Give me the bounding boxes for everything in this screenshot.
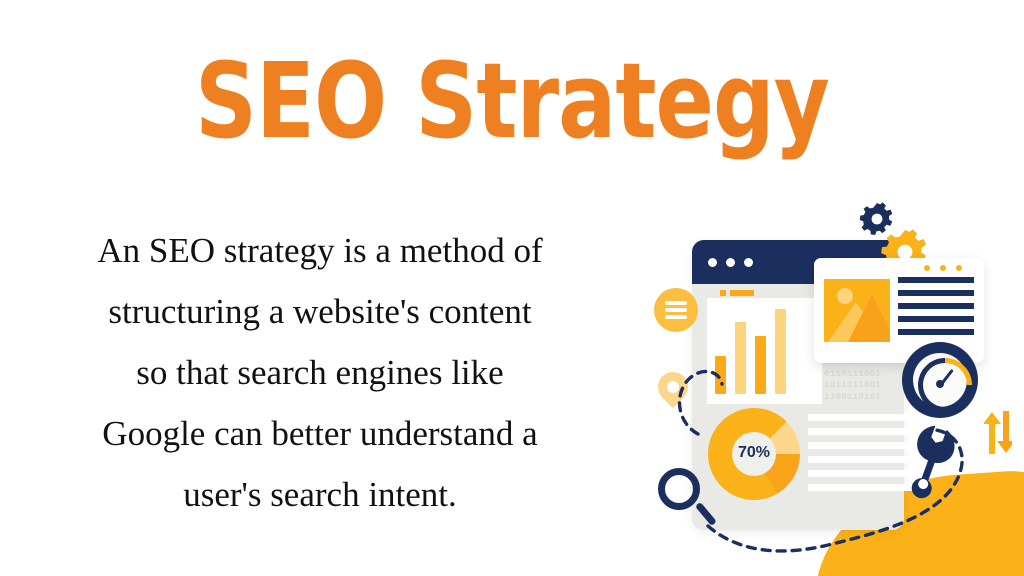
wrench-icon — [904, 422, 956, 500]
body-line-3: so that search engines like — [12, 342, 628, 403]
body-line-2: structuring a website's content — [12, 281, 628, 342]
up-down-arrows-icon — [984, 410, 1012, 454]
body-line-5: user's search intent. — [12, 464, 628, 525]
body-paragraph: An SEO strategy is a method of structuri… — [12, 220, 628, 525]
body-line-4: Google can better understand a — [12, 403, 628, 464]
slide-canvas: SEO Strategy An SEO strategy is a method… — [0, 0, 1024, 576]
page-title: SEO Strategy — [41, 46, 983, 156]
body-line-1: An SEO strategy is a method of — [12, 220, 628, 281]
gauge-icon — [902, 342, 978, 418]
seo-analytics-illustration: 70% 1010110110 0110111001 1011011001 110… — [636, 196, 1024, 576]
magnifier-icon — [658, 468, 700, 510]
